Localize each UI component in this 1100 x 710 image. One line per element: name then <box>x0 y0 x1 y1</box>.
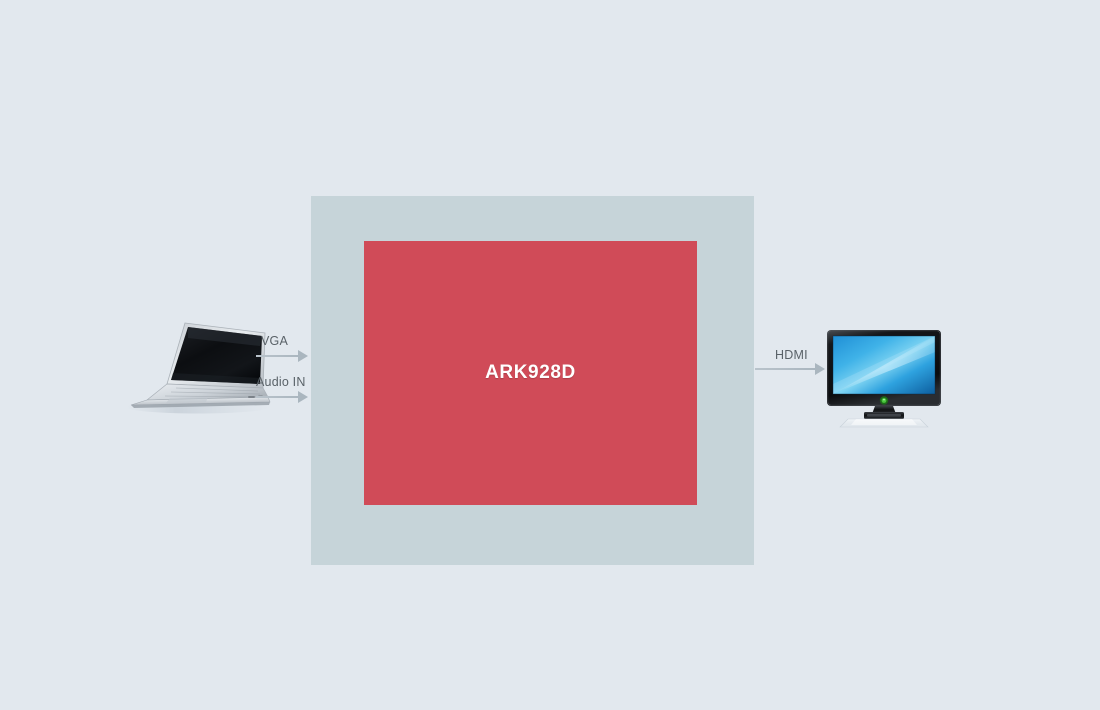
arrow-line <box>755 368 816 370</box>
connection-arrow-hdmi <box>755 360 825 378</box>
connection-label-audio-in: Audio IN <box>256 375 306 389</box>
arrow-line <box>256 355 299 357</box>
arrow-head-icon <box>298 350 308 362</box>
connection-arrow-vga <box>256 347 308 365</box>
device-model-label: ARK928D <box>364 241 697 505</box>
connection-arrow-audio-in <box>256 388 308 406</box>
arrow-head-icon <box>298 391 308 403</box>
diagram-canvas: ARK928D <box>0 0 1100 710</box>
connection-label-vga: VGA <box>261 334 288 348</box>
arrow-head-icon <box>815 363 825 375</box>
laptop-icon <box>110 312 280 418</box>
arrow-line <box>256 396 299 398</box>
television-icon <box>818 326 950 432</box>
